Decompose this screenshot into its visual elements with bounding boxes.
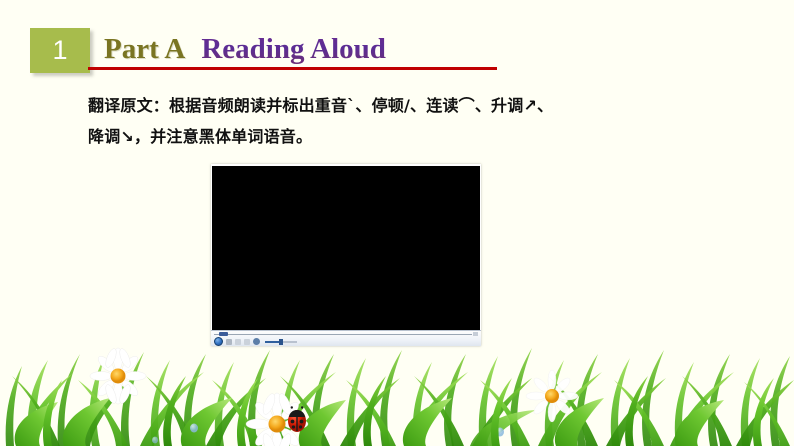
previous-icon[interactable] <box>235 339 241 345</box>
dew-drops <box>152 424 504 444</box>
play-icon[interactable] <box>214 337 223 346</box>
ladybug-icon <box>288 406 306 432</box>
seek-track[interactable] <box>214 334 472 335</box>
instruction-line-2: 降调↘，并注意黑体单词语音。 <box>88 121 728 152</box>
seek-bar[interactable] <box>214 332 478 336</box>
page-title: Part AReading Aloud <box>104 32 386 67</box>
slide-header: 1 Part AReading Aloud <box>0 0 794 82</box>
grass-layer-cross <box>12 372 794 446</box>
title-part-a: Part A <box>104 33 185 65</box>
grass-leaves <box>15 398 724 446</box>
grass-decoration <box>0 336 794 446</box>
daisy-flower <box>90 347 146 405</box>
daisy-flower <box>526 370 578 422</box>
instruction-line-1: 翻译原文：根据音频朗读并标出重音`、停顿/、连读⌒、升调↗、 <box>88 90 728 121</box>
next-icon[interactable] <box>244 339 250 345</box>
volume-slider[interactable] <box>265 341 297 343</box>
instruction-text: 翻译原文：根据音频朗读并标出重音`、停顿/、连读⌒、升调↗、 降调↘，并注意黑体… <box>88 90 728 152</box>
seek-handle[interactable] <box>219 332 228 336</box>
title-reading-aloud: Reading Aloud <box>201 33 386 65</box>
grass-layer-back <box>6 348 790 446</box>
daisy-flower <box>246 392 308 446</box>
title-underline <box>88 67 497 70</box>
media-player[interactable] <box>211 164 481 346</box>
video-screen[interactable] <box>212 166 480 331</box>
volume-handle[interactable] <box>279 339 283 345</box>
player-buttons[interactable] <box>214 337 297 346</box>
stop-icon[interactable] <box>226 339 232 345</box>
section-number-badge: 1 <box>30 28 90 73</box>
slide: 1 Part AReading Aloud 翻译原文：根据音频朗读并标出重音`、… <box>0 0 794 446</box>
player-control-bar[interactable] <box>211 330 481 346</box>
section-number-label: 1 <box>52 37 67 64</box>
seek-end-marker <box>473 332 478 336</box>
grass-layer-front <box>43 376 774 446</box>
mute-icon[interactable] <box>253 338 260 345</box>
